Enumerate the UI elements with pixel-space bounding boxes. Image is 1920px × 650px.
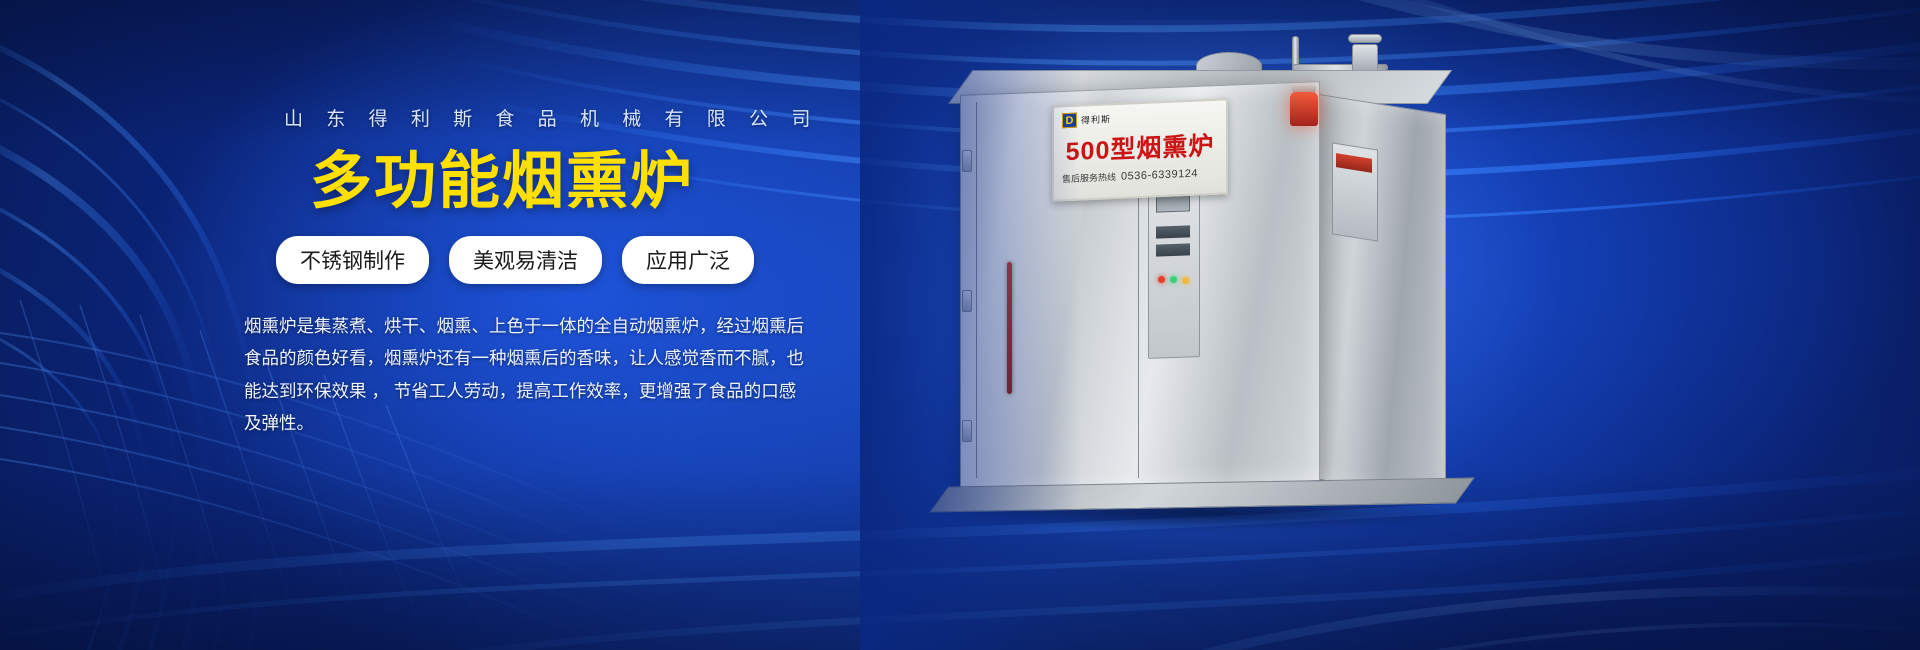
door-hinge-bottom [962,420,972,442]
door-hinge-mid [962,290,972,312]
banner-headline: 多功能烟熏炉 [310,149,844,214]
company-name: 山 东 得 利 斯 食 品 机 械 有 限 公 司 [284,104,844,131]
placard-hotline-number: 0536-6339124 [1121,168,1198,183]
door-seam-left [976,102,977,478]
hero-banner: D 得利斯 500型烟熏炉 售后服务热线 0536-6339124 山 东 得 … [0,0,1920,650]
control-panel-keys-bottom [1156,243,1190,256]
placard-model-title: 500型烟熏炉 [1062,126,1218,169]
brand-logo-icon: D [1062,113,1077,129]
feature-pill-application[interactable]: 应用广泛 [622,236,754,284]
banner-description: 烟熏炉是集蒸煮、烘干、烟熏、上色于一体的全自动烟熏炉，经过烟熏后食品的颜色好看，… [244,310,809,440]
valve-wheel [1348,34,1382,43]
panel-led-green [1170,276,1177,283]
feature-pill-material[interactable]: 不锈钢制作 [276,236,429,284]
placard-brand-name: 得利斯 [1081,112,1111,126]
placard-brand-row: D 得利斯 [1062,107,1218,129]
control-panel-keys-top [1156,225,1190,238]
feature-pill-cleaning[interactable]: 美观易清洁 [449,236,602,284]
left-fan-lines [0,30,261,650]
product-placard: D 得利斯 500型烟熏炉 售后服务热线 0536-6339124 [1052,98,1228,201]
banner-content: 山 东 得 利 斯 食 品 机 械 有 限 公 司 多功能烟熏炉 不锈钢制作 美… [244,104,844,440]
door-handle [1007,262,1012,394]
panel-led-amber [1182,277,1189,284]
alarm-beacon-icon [1290,92,1318,126]
placard-hotline-label: 售后服务热线 [1062,170,1116,185]
door-hinge-top [962,150,972,172]
product-image: D 得利斯 500型烟熏炉 售后服务热线 0536-6339124 [900,30,1520,550]
feature-pill-list: 不锈钢制作 美观易清洁 应用广泛 [276,236,844,284]
panel-led-red [1158,276,1165,283]
placard-hotline: 售后服务热线 0536-6339124 [1062,166,1218,186]
